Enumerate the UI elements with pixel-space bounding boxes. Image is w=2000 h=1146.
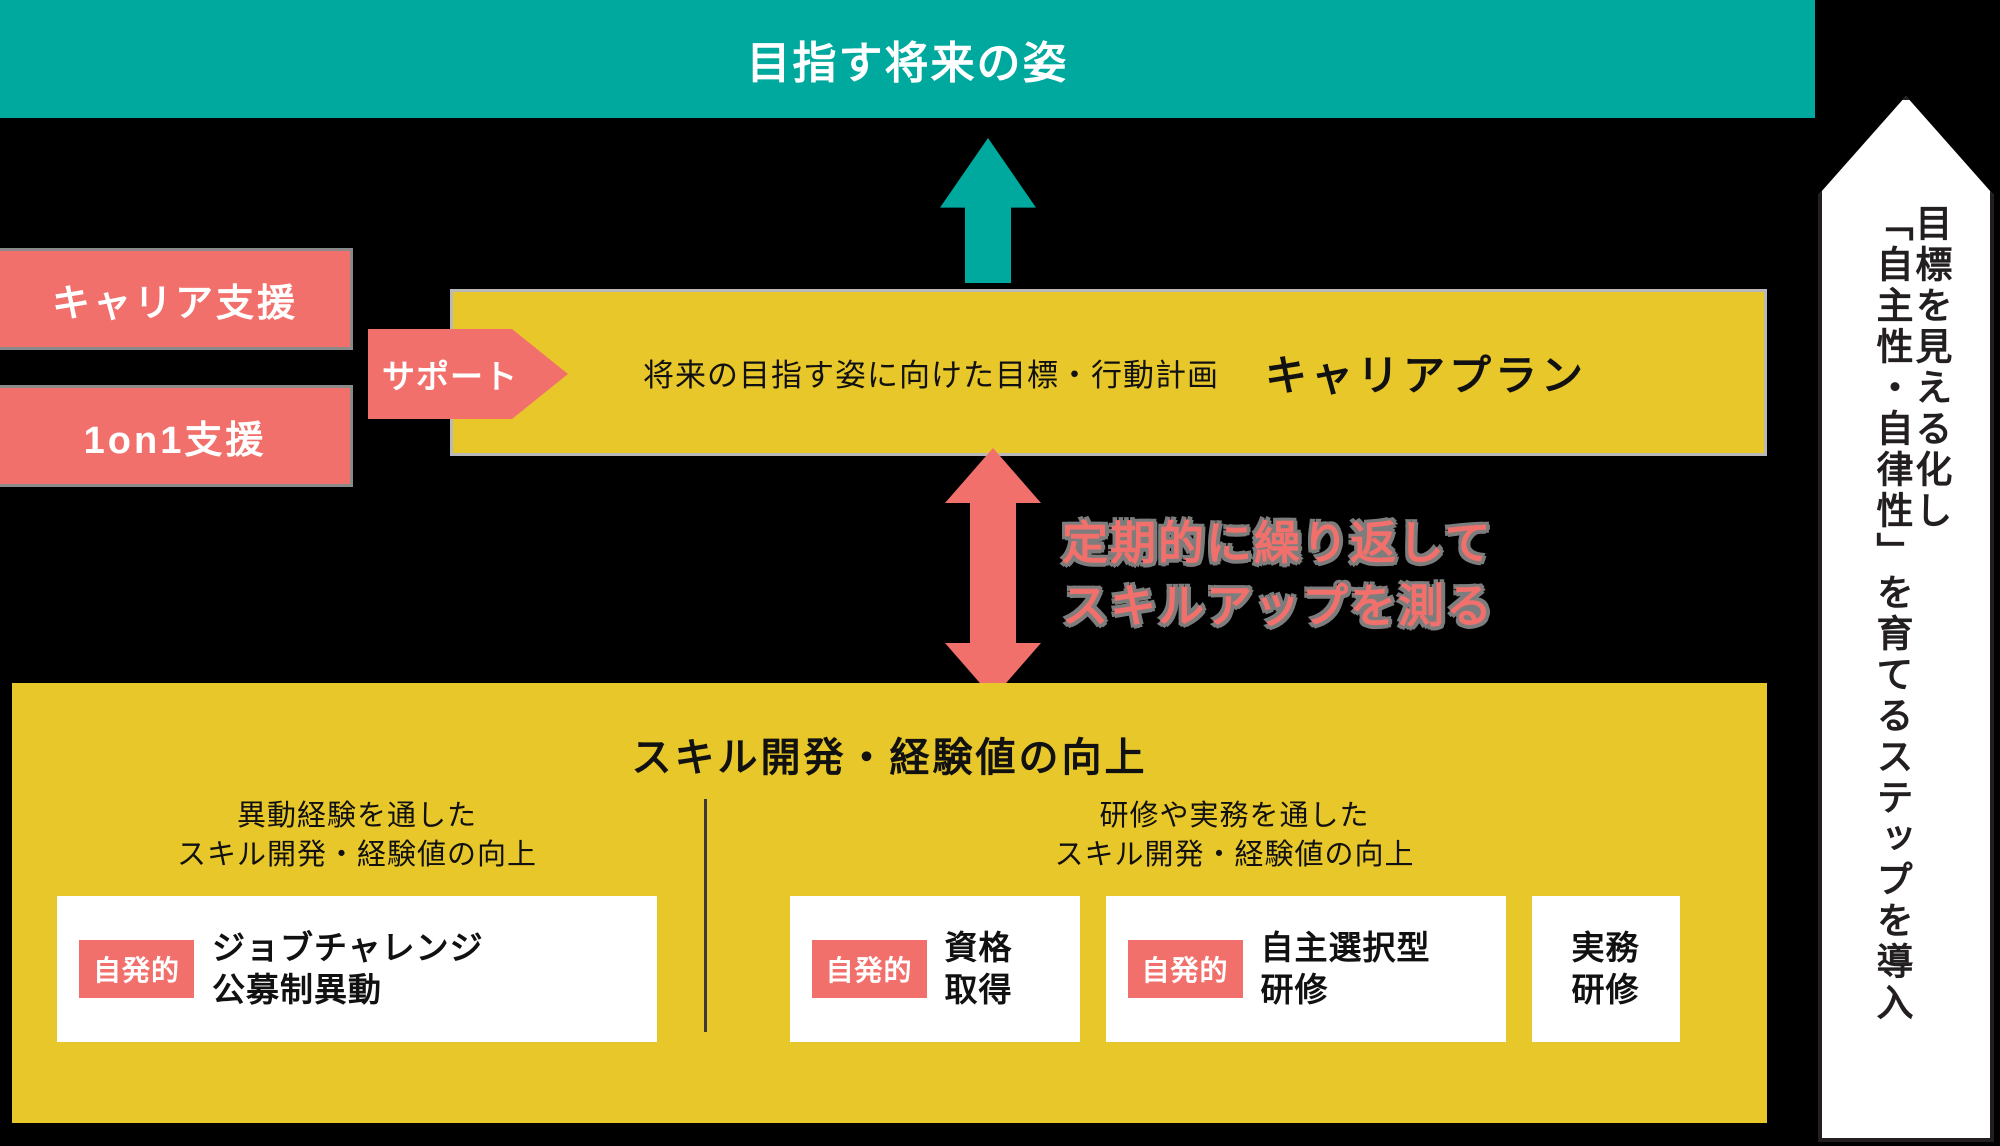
chip-1on1-support: 1on1支援 [0,385,353,487]
skill-panel-heading: スキル開発・経験値の向上 [12,725,1767,783]
header-banner: 目指す将来の姿 [0,0,1815,118]
badge-voluntary: 自発的 [1128,940,1243,998]
card-practical-training[interactable]: 実務 研修 [1532,896,1680,1042]
infographic-root: 目指す将来の姿 キャリア支援 1on1支援 将来の目指す姿に向けた目標・行動計画… [0,0,2000,1146]
chip-career-support: キャリア支援 [0,248,353,350]
page-title: 目指す将来の姿 [747,27,1069,91]
chip-career-support-label: キャリア支援 [52,272,298,327]
card-self-select-training[interactable]: 自発的 自主選択型 研修 [1106,896,1506,1042]
vertical-arrow-banner-text: 目標を見える化し 「自主性・自律性」を育てるステップを導入 [1822,204,1998,1104]
repeat-caption-line2: スキルアップを測る [1062,575,1494,638]
card-certification-text: 資格 取得 [945,927,1013,1011]
career-plan-description: 将来の目指す姿に向けた目標・行動計画 [643,350,1219,395]
card-job-challenge-text: ジョブチャレンジ 公募制異動 [212,927,484,1011]
vertical-banner-line2: 「自主性・自律性」を育てるステップを導入 [1871,204,1910,1024]
badge-voluntary: 自発的 [812,940,927,998]
card-text-line2: 研修 [1572,969,1640,1011]
subtitle-line2: スキル開発・経験値の向上 [702,836,1767,875]
card-job-challenge[interactable]: 自発的 ジョブチャレンジ 公募制異動 [57,896,657,1042]
card-text-line2: 公募制異動 [212,969,484,1011]
chip-1on1-support-label: 1on1支援 [84,409,267,464]
vertical-banner-line1: 目標を見える化し [1910,204,1949,532]
vertical-arrow-banner: 目標を見える化し 「自主性・自律性」を育てるステップを導入 [1818,96,1994,1142]
arrow-up-teal-icon [940,138,1036,283]
career-plan-name: キャリアプラン [1265,342,1587,403]
card-text-line1: 資格 [945,927,1013,969]
skill-columns: 異動経験を通した スキル開発・経験値の向上 自発的 ジョブチャレンジ 公募制異動 [12,797,1767,1042]
subtitle-line1: 研修や実務を通した [702,797,1767,836]
skill-column-training-subtitle: 研修や実務を通した スキル開発・経験値の向上 [702,797,1767,874]
card-certification[interactable]: 自発的 資格 取得 [790,896,1080,1042]
card-text-line1: 自主選択型 [1261,927,1431,969]
card-text-line1: ジョブチャレンジ [212,927,484,969]
badge-voluntary: 自発的 [79,940,194,998]
repeat-caption-line1: 定期的に繰り返して [1062,512,1494,575]
career-plan-bar: 将来の目指す姿に向けた目標・行動計画 キャリアプラン [450,289,1767,456]
card-text-line2: 取得 [945,969,1013,1011]
skill-column-rotation-cards: 自発的 ジョブチャレンジ 公募制異動 [12,896,702,1042]
support-label: サポート [382,350,518,398]
skill-column-training-cards: 自発的 資格 取得 自発的 自主選択型 研修 [702,896,1767,1042]
skill-column-rotation-subtitle: 異動経験を通した スキル開発・経験値の向上 [12,797,702,874]
repeat-caption: 定期的に繰り返して スキルアップを測る [1062,512,1494,639]
skill-column-training: 研修や実務を通した スキル開発・経験値の向上 自発的 資格 取得 自発的 [702,797,1767,1042]
card-text-line2: 研修 [1261,969,1431,1011]
card-self-select-training-text: 自主選択型 研修 [1261,927,1431,1011]
card-practical-training-text: 実務 研修 [1572,927,1640,1011]
skill-development-panel: スキル開発・経験値の向上 異動経験を通した スキル開発・経験値の向上 自発的 ジ… [12,683,1767,1123]
card-text-line1: 実務 [1572,927,1640,969]
subtitle-line2: スキル開発・経験値の向上 [12,836,702,875]
subtitle-line1: 異動経験を通した [12,797,702,836]
skill-column-rotation: 異動経験を通した スキル開発・経験値の向上 自発的 ジョブチャレンジ 公募制異動 [12,797,702,1042]
arrow-double-vertical-icon [945,448,1041,698]
